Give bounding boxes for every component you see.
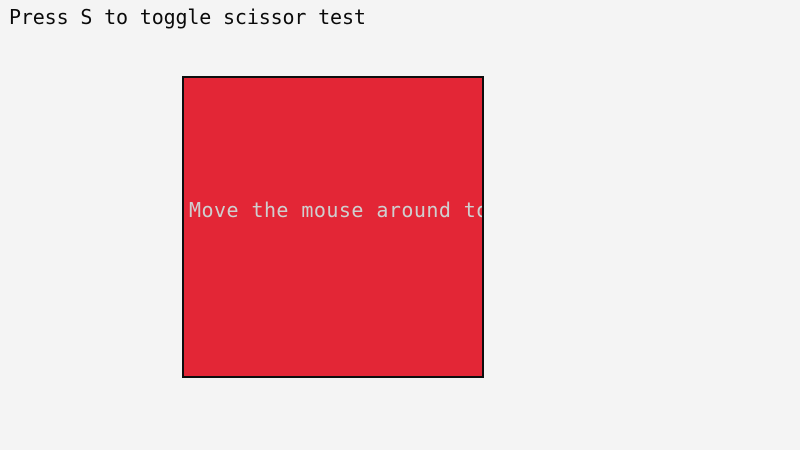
scissor-rectangle[interactable]: Move the mouse around to r	[182, 76, 484, 378]
app-window: Press S to toggle scissor test Move the …	[0, 0, 800, 450]
scissor-clipped-text: Move the mouse around to r	[189, 198, 484, 222]
instruction-text: Press S to toggle scissor test	[9, 5, 366, 29]
